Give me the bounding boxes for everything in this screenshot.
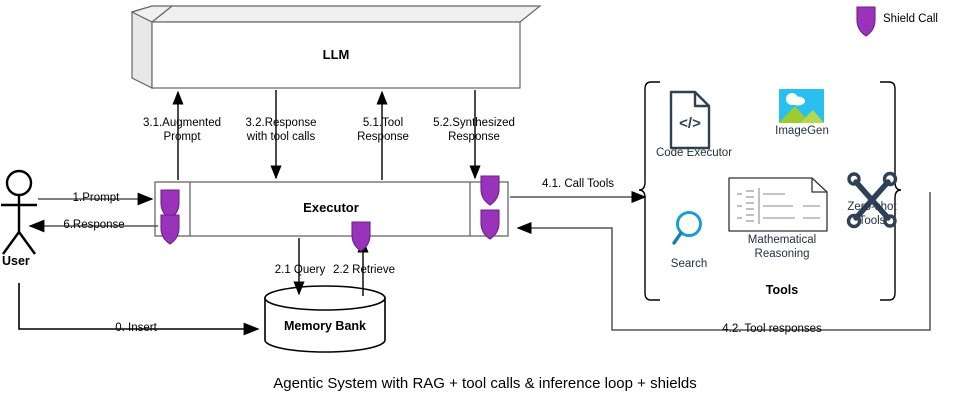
tools-group-brace-left — [639, 82, 660, 300]
edge-label-augmented-prompt-line1: 3.1.Augmented — [143, 117, 221, 131]
diagram-caption: Agentic System with RAG + tool calls & i… — [0, 375, 970, 392]
tools-group-label: Tools — [766, 284, 798, 298]
memory-bank-label: Memory Bank — [284, 320, 366, 334]
edge-label-response: 6.Response — [63, 219, 124, 233]
edge-label-response-tool-calls-line2: with tool calls — [247, 131, 315, 145]
tool-label-math-line1: Mathematical — [748, 234, 816, 248]
edge-label-synthesized-line1: 5.2.Synthesized — [433, 117, 515, 131]
diagram-vector-layer: </> — [0, 0, 970, 411]
executor-label: Executor — [303, 201, 359, 215]
svg-text:</>: </> — [679, 115, 701, 132]
edge-label-tool-response-line1: 5.1.Tool — [363, 117, 403, 131]
legend-shield-icon — [857, 7, 875, 36]
formula-document-icon[interactable] — [729, 178, 827, 231]
edge-label-query: 2.1 Query — [275, 264, 326, 278]
edge-label-response-tool-calls-line1: 3.2.Response — [246, 117, 317, 131]
edge-label-insert: 0. Insert — [115, 322, 157, 336]
code-document-icon[interactable]: </> — [671, 92, 709, 148]
tool-label-search: Search — [671, 258, 707, 272]
tool-label-zeroshot-line2: Tools — [859, 215, 886, 229]
shield-icon-executor-left-bottom[interactable] — [161, 215, 179, 244]
legend-label: Shield Call — [883, 13, 938, 27]
edge-label-retrieve: 2.2 Retrieve — [333, 264, 395, 278]
user-label: User — [2, 255, 30, 269]
magnifier-icon[interactable] — [674, 213, 701, 244]
tool-label-imagegen: ImageGen — [775, 125, 829, 139]
edge-label-synthesized-line2: Response — [448, 131, 500, 145]
llm-label: LLM — [323, 48, 350, 62]
tool-label-math-line2: Reasoning — [755, 248, 810, 262]
edge-label-tool-response-line2: Response — [357, 131, 409, 145]
edge-label-augmented-prompt-line2: Prompt — [163, 131, 200, 145]
shield-icon-executor-bottom-center[interactable] — [352, 222, 370, 251]
user-actor[interactable] — [1, 171, 37, 254]
tool-label-code-executor: Code Executor — [656, 147, 732, 161]
tool-label-zeroshot-line1: Zero-shot — [847, 201, 896, 215]
edge-label-call-tools: 4.1. Call Tools — [542, 178, 614, 192]
image-generation-icon[interactable] — [779, 89, 824, 123]
edge-label-prompt: 1.Prompt — [73, 192, 120, 206]
edge-label-tool-responses: 4.2. Tool responses — [722, 323, 822, 337]
diagram-canvas: </> — [0, 0, 970, 411]
